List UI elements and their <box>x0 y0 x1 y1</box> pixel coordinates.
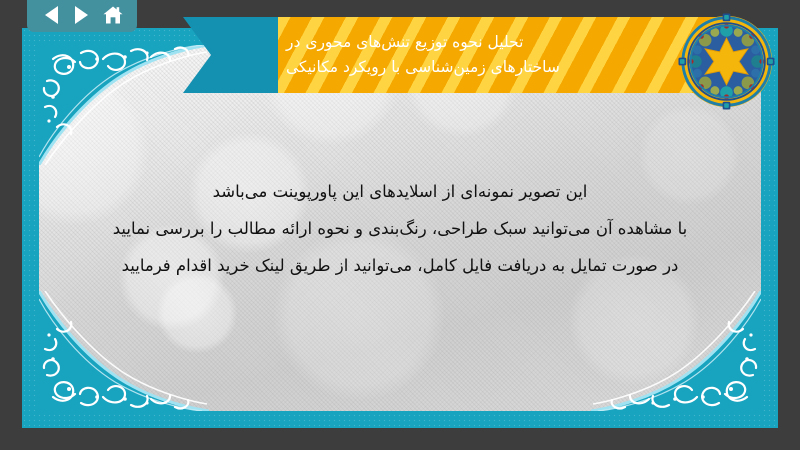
title-line-1: تحلیل نحوه توزیع تنش‌های محوری در <box>286 30 523 55</box>
body-line-1: این تصویر نمونه‌ای از اسلایدهای این پاور… <box>79 173 721 210</box>
arabesque-corner-ornament-bottom-left <box>39 291 209 411</box>
triangle-left-icon <box>45 6 58 24</box>
ribbon-tail <box>183 17 280 93</box>
slide-title-ribbon: تحلیل نحوه توزیع تنش‌های محوری در ساختار… <box>183 17 728 93</box>
arabesque-corner-ornament-bottom-right <box>591 291 761 411</box>
triangle-right-icon <box>75 6 88 24</box>
home-button[interactable] <box>100 3 126 27</box>
slide-body-text: این تصویر نمونه‌ای از اسلایدهای این پاور… <box>79 173 721 284</box>
slide-content-panel: این تصویر نمونه‌ای از اسلایدهای این پاور… <box>39 45 761 411</box>
persian-medallion-ornament <box>678 13 775 110</box>
presentation-viewer: این تصویر نمونه‌ای از اسلایدهای این پاور… <box>0 0 800 450</box>
previous-slide-button[interactable] <box>38 3 64 27</box>
next-slide-button[interactable] <box>69 3 95 27</box>
slide-title: تحلیل نحوه توزیع تنش‌های محوری در ساختار… <box>278 17 728 93</box>
home-icon <box>102 5 124 25</box>
ribbon-body: تحلیل نحوه توزیع تنش‌های محوری در ساختار… <box>278 17 728 93</box>
slide-navigation-bar <box>27 0 137 32</box>
body-line-2: با مشاهده آن می‌توانید سبک طراحی، رنگ‌بن… <box>79 210 721 247</box>
title-line-2: ساختارهای زمین‌شناسی با رویکرد مکانیکی <box>286 55 560 80</box>
bokeh-light <box>157 273 237 353</box>
body-line-3: در صورت تمایل به دریافت فایل کامل، می‌تو… <box>79 247 721 284</box>
